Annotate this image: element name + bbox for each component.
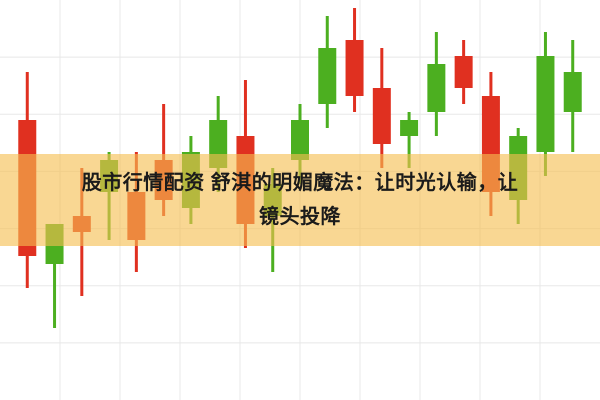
chart-screenshot: 股市行情配资 舒淇的明媚魔法：让时光认输，让 镜头投降 bbox=[0, 0, 600, 400]
headline-line-1: 股市行情配资 舒淇的明媚魔法：让时光认输，让 bbox=[82, 166, 519, 200]
headline-line-2: 镜头投降 bbox=[259, 200, 341, 234]
headline-overlay: 股市行情配资 舒淇的明媚魔法：让时光认输，让 镜头投降 bbox=[0, 154, 600, 246]
